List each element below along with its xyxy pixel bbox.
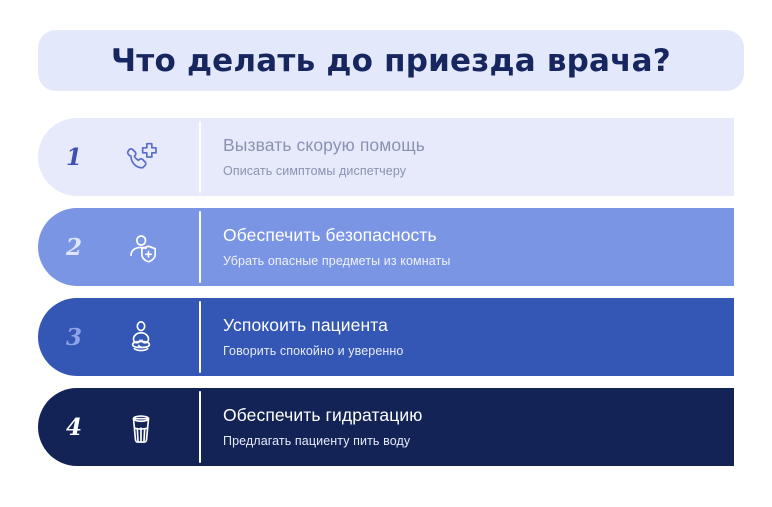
step-subtitle: Описать симптомы диспетчеру [223, 164, 734, 178]
person-shield-icon [110, 227, 172, 267]
step-number: 1 [38, 146, 110, 169]
step-title: Обеспечить гидратацию [223, 405, 734, 425]
water-glass-icon [110, 407, 172, 447]
page-title: Что делать до приезда врача? [111, 43, 671, 79]
step-divider [199, 211, 201, 283]
step-content: Обеспечить гидратациюПредлагать пациенту… [201, 388, 734, 466]
step-title: Успокоить пациента [223, 315, 734, 335]
step-divider [199, 391, 201, 463]
step-marker: 4 [38, 388, 201, 466]
step-marker: 2 [38, 208, 201, 286]
steps-list: 1Вызвать скорую помощьОписать симптомы д… [38, 118, 734, 478]
step-marker: 3 [38, 298, 201, 376]
step-title: Обеспечить безопасность [223, 225, 734, 245]
step-number: 2 [38, 236, 110, 259]
step-row[interactable]: 3Успокоить пациентаГоворить спокойно и у… [38, 298, 734, 376]
step-subtitle: Говорить спокойно и уверенно [223, 344, 734, 358]
step-content: Вызвать скорую помощьОписать симптомы ди… [201, 118, 734, 196]
step-marker: 1 [38, 118, 201, 196]
step-subtitle: Убрать опасные предметы из комнаты [223, 254, 734, 268]
step-divider [199, 301, 201, 373]
step-row[interactable]: 2Обеспечить безопасностьУбрать опасные п… [38, 208, 734, 286]
step-content: Обеспечить безопасностьУбрать опасные пр… [201, 208, 734, 286]
title-banner: Что делать до приезда врача? [38, 30, 744, 91]
step-title: Вызвать скорую помощь [223, 135, 734, 155]
step-divider [199, 121, 201, 193]
meditation-icon [110, 317, 172, 357]
step-subtitle: Предлагать пациенту пить воду [223, 434, 734, 448]
step-number: 3 [38, 326, 110, 349]
step-number: 4 [38, 416, 110, 439]
step-row[interactable]: 1Вызвать скорую помощьОписать симптомы д… [38, 118, 734, 196]
step-content: Успокоить пациентаГоворить спокойно и ув… [201, 298, 734, 376]
phone-emergency-icon [110, 137, 172, 177]
step-row[interactable]: 4Обеспечить гидратациюПредлагать пациент… [38, 388, 734, 466]
